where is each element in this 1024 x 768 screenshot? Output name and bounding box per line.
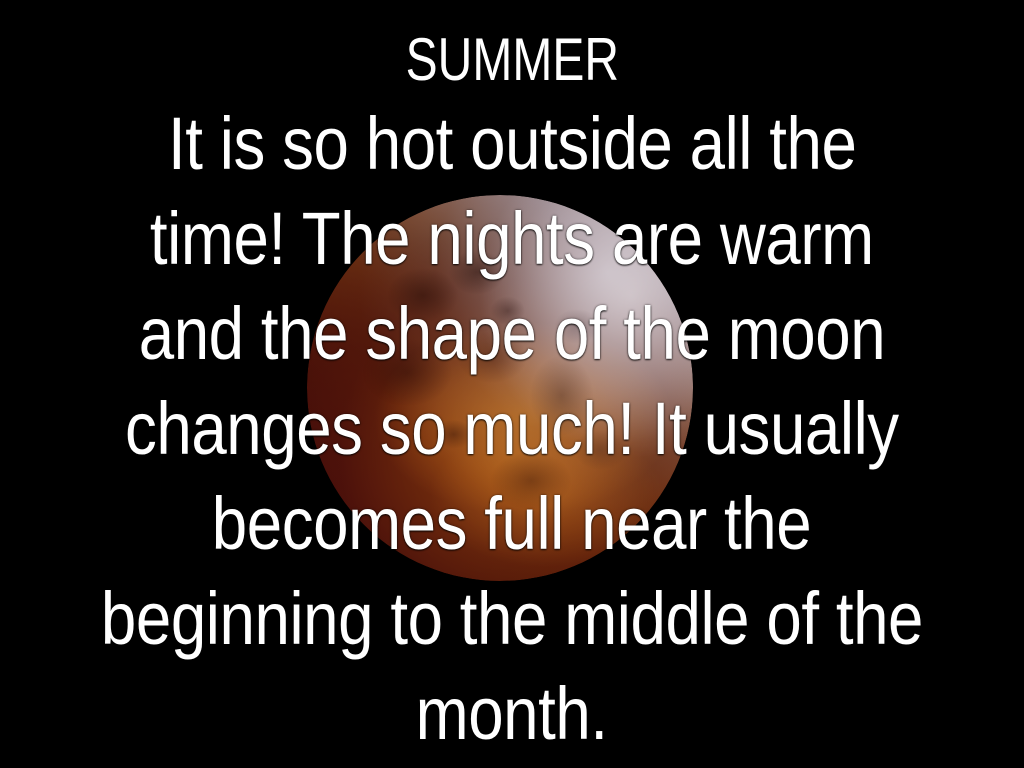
slide-canvas: SUMMER It is so hot outside all the time… [0,0,1024,768]
slide-body-line-5: becomes full near the [212,476,811,571]
slide-body-line-2: time! The nights are warm [150,191,874,286]
slide-text-block: SUMMER It is so hot outside all the time… [0,0,1024,768]
slide-body-line-4: changes so much! It usually [125,381,899,476]
slide-body-line-3: and the shape of the moon [139,286,885,381]
slide-body-line-7: month. [416,666,608,761]
slide-title: SUMMER [405,24,618,96]
slide-body-line-1: It is so hot outside all the [168,96,856,191]
slide-body-line-6: beginning to the middle of the [101,571,923,666]
